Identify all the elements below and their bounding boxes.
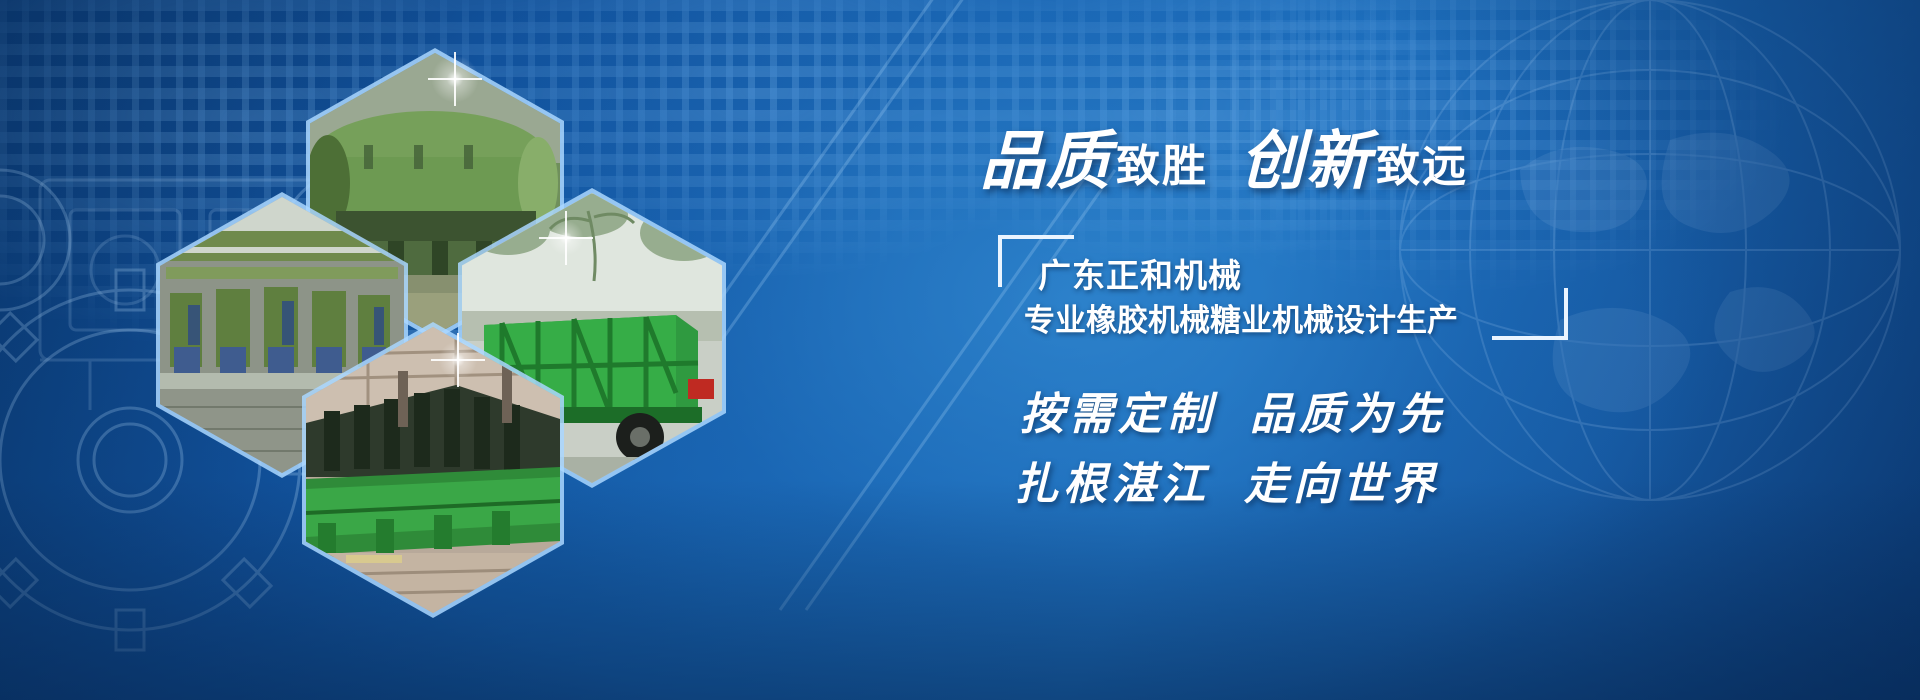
headline-part1-big: 品质 (980, 126, 1112, 197)
banner-text-block: 品质致胜创新致远 广东正和机械 专业橡胶机械糖业机械设计生产 按需定制品质为先 … (980, 110, 1700, 630)
slogan-row-1: 按需定制品质为先 (1020, 378, 1446, 442)
company-description: 专业橡胶机械糖业机械设计生产 (1024, 295, 1458, 340)
headline-part2-small: 致远 (1372, 142, 1474, 191)
slogan-2-right: 走向世界 (1244, 460, 1440, 509)
slogan-row-2: 扎根湛江走向世界 (1014, 448, 1440, 512)
hex-photo-cluster (150, 40, 870, 580)
headline-part1-small: 致胜 (1112, 142, 1214, 191)
promo-banner: 品质致胜创新致远 广东正和机械 专业橡胶机械糖业机械设计生产 按需定制品质为先 … (0, 0, 1920, 700)
company-name: 广东正和机械 (1038, 249, 1242, 297)
slogan-1-right: 品质为先 (1250, 390, 1446, 439)
company-bracket-box: 广东正和机械 专业橡胶机械糖业机械设计生产 (998, 235, 1568, 340)
headline: 品质致胜创新致远 (980, 110, 1474, 202)
bracket-corner-bottom-right (1492, 288, 1568, 340)
headline-part2-big: 创新 (1240, 126, 1372, 197)
slogan-1-left: 按需定制 (1020, 390, 1216, 439)
slogan-2-left: 扎根湛江 (1014, 460, 1210, 509)
